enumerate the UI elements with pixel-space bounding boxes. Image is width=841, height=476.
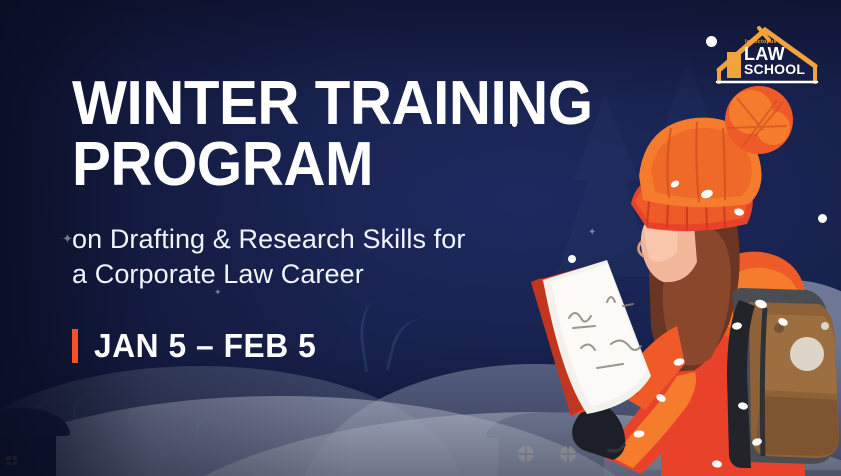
accent-bar (72, 329, 78, 363)
logo-line-school: SCHOOL (744, 62, 805, 76)
winter-training-program-banner: ✦ ✦ ✦ WINTER TRAINING PROGRAM on Draftin… (0, 0, 841, 476)
winter-reader-illustration (511, 76, 841, 476)
date-range: JAN 5 – FEB 5 (94, 327, 316, 365)
lawoctopus-law-school-logo[interactable]: lawoctopus LAW SCHOOL (711, 26, 823, 90)
